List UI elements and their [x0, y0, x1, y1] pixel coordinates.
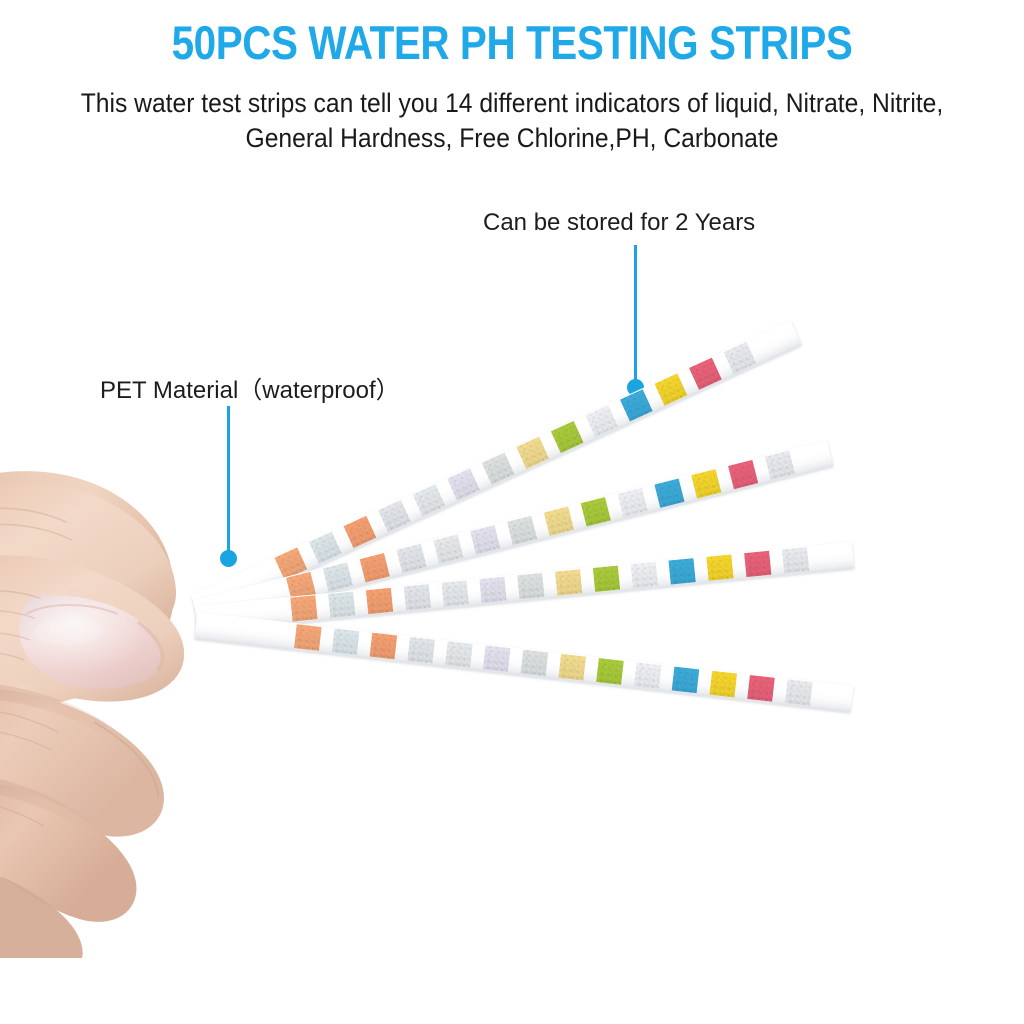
strip-pad-salmon-orange [294, 624, 322, 651]
strip-pad-grey [507, 516, 537, 545]
knuckle-shadow-1 [0, 682, 106, 736]
little-finger [0, 862, 83, 958]
middle-finger [0, 687, 164, 836]
strip-pad-yellow-tan [555, 569, 582, 595]
nail-edge [138, 622, 162, 670]
strip-pad-pale-grey [407, 637, 435, 664]
strip-pad-light-grey [442, 580, 469, 606]
knuckle-shadow-2 [0, 773, 90, 834]
strip-pad-orange [366, 588, 393, 614]
callout-label-storage-life: Can be stored for 2 Years [483, 209, 755, 237]
strip-pad-yellow [691, 469, 721, 498]
strip-pad-yellow-tan [558, 654, 586, 681]
strip-pad-pale-blue-grey [328, 592, 355, 618]
strip-pad-white-end [765, 451, 795, 480]
strip-pad-light-grey [433, 534, 463, 563]
strip-pad-lavender-grey [479, 577, 506, 603]
strip-pad-lavender-grey [483, 645, 511, 672]
strip-pad-pink-red [744, 551, 771, 577]
callout-leader-line-pet-material [227, 406, 230, 554]
strip-pad-orange [370, 633, 398, 660]
finger-crease [94, 722, 158, 798]
nail-cuticle [26, 605, 118, 614]
strip-pad-pale-grey [397, 544, 427, 573]
strip-pad-blue [672, 667, 700, 694]
strip-pad-yellow [709, 671, 737, 698]
hand-palm [0, 471, 174, 711]
strip-pad-olive-green [581, 497, 611, 526]
callout-label-pet-material: PET Material（waterproof） [100, 370, 400, 405]
product-image-canvas: 50PCS WATER PH TESTING STRIPS This water… [0, 0, 1024, 1024]
strip-pad-white-end [785, 679, 813, 706]
strip-pad-lavender-grey [470, 525, 500, 554]
callout-leader-line-storage-life [634, 245, 637, 383]
strip-pad-pale-blue-grey [323, 562, 353, 591]
strip-pad-blue [654, 478, 684, 507]
callout-dot-pet-material [220, 550, 237, 567]
strip-pad-yellow-tan [544, 506, 574, 535]
skin-creases [0, 508, 72, 826]
strip-pad-light-grey [445, 641, 473, 668]
test-strip [194, 612, 853, 712]
strip-pad-olive-green [593, 566, 620, 592]
thumb-nail-highlight [19, 595, 162, 689]
strip-pad-grey [521, 650, 549, 677]
page-title: 50PCS WATER PH TESTING STRIPS [72, 18, 953, 67]
strip-pad-white-grey [631, 562, 658, 588]
strip-pad-grey [517, 573, 544, 599]
strip-pad-white-grey [618, 488, 648, 517]
hand-holding-strips [0, 400, 290, 960]
strip-pad-salmon-orange [290, 595, 317, 621]
strip-pad-blue [669, 558, 696, 584]
index-finger [0, 482, 176, 633]
ring-finger [0, 779, 136, 922]
strip-pad-pale-grey [404, 584, 431, 610]
strip-pad-white-grey [634, 662, 662, 689]
strip-pad-yellow [706, 554, 733, 580]
strip-pad-pink-red [747, 675, 775, 702]
strip-pad-olive-green [596, 658, 624, 685]
strip-pad-pale-blue-grey [332, 628, 360, 655]
product-subtitle: This water test strips can tell you 14 d… [58, 86, 966, 156]
thumb-highlight [34, 618, 102, 646]
thumb [0, 555, 184, 701]
strip-pad-white-end [782, 547, 809, 573]
thumb-nail [19, 595, 162, 689]
